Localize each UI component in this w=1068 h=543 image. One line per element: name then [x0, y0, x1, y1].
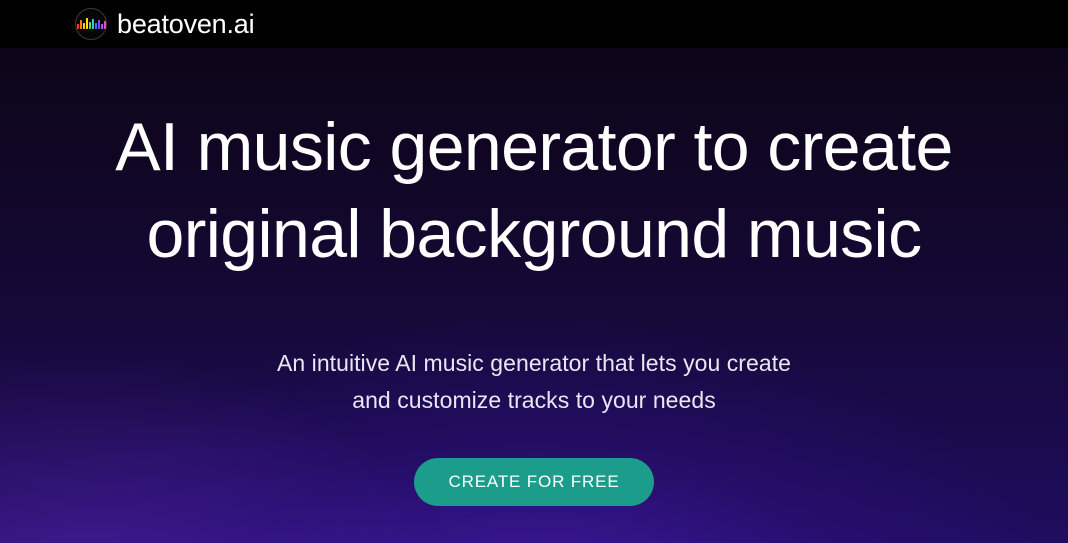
- top-navbar: beatoven.ai: [0, 0, 1068, 48]
- subhead-line-1: An intuitive AI music generator that let…: [0, 345, 1068, 382]
- cta-container: CREATE FOR FREE: [0, 458, 1068, 506]
- headline-line-1: AI music generator to create: [0, 104, 1068, 191]
- page-subtitle: An intuitive AI music generator that let…: [0, 345, 1068, 420]
- hero-section: AI music generator to create original ba…: [0, 48, 1068, 543]
- equalizer-circle-icon: [75, 8, 107, 40]
- hero-content: AI music generator to create original ba…: [0, 48, 1068, 543]
- headline-line-2: original background music: [0, 191, 1068, 278]
- landing-page: beatoven.ai AI music generator to create…: [0, 0, 1068, 543]
- create-for-free-button[interactable]: CREATE FOR FREE: [414, 458, 653, 506]
- brand-name: beatoven.ai: [117, 11, 254, 38]
- brand-logo-link[interactable]: beatoven.ai: [75, 8, 254, 40]
- subhead-line-2: and customize tracks to your needs: [0, 382, 1068, 419]
- page-title: AI music generator to create original ba…: [0, 104, 1068, 278]
- equalizer-bars: [77, 17, 106, 29]
